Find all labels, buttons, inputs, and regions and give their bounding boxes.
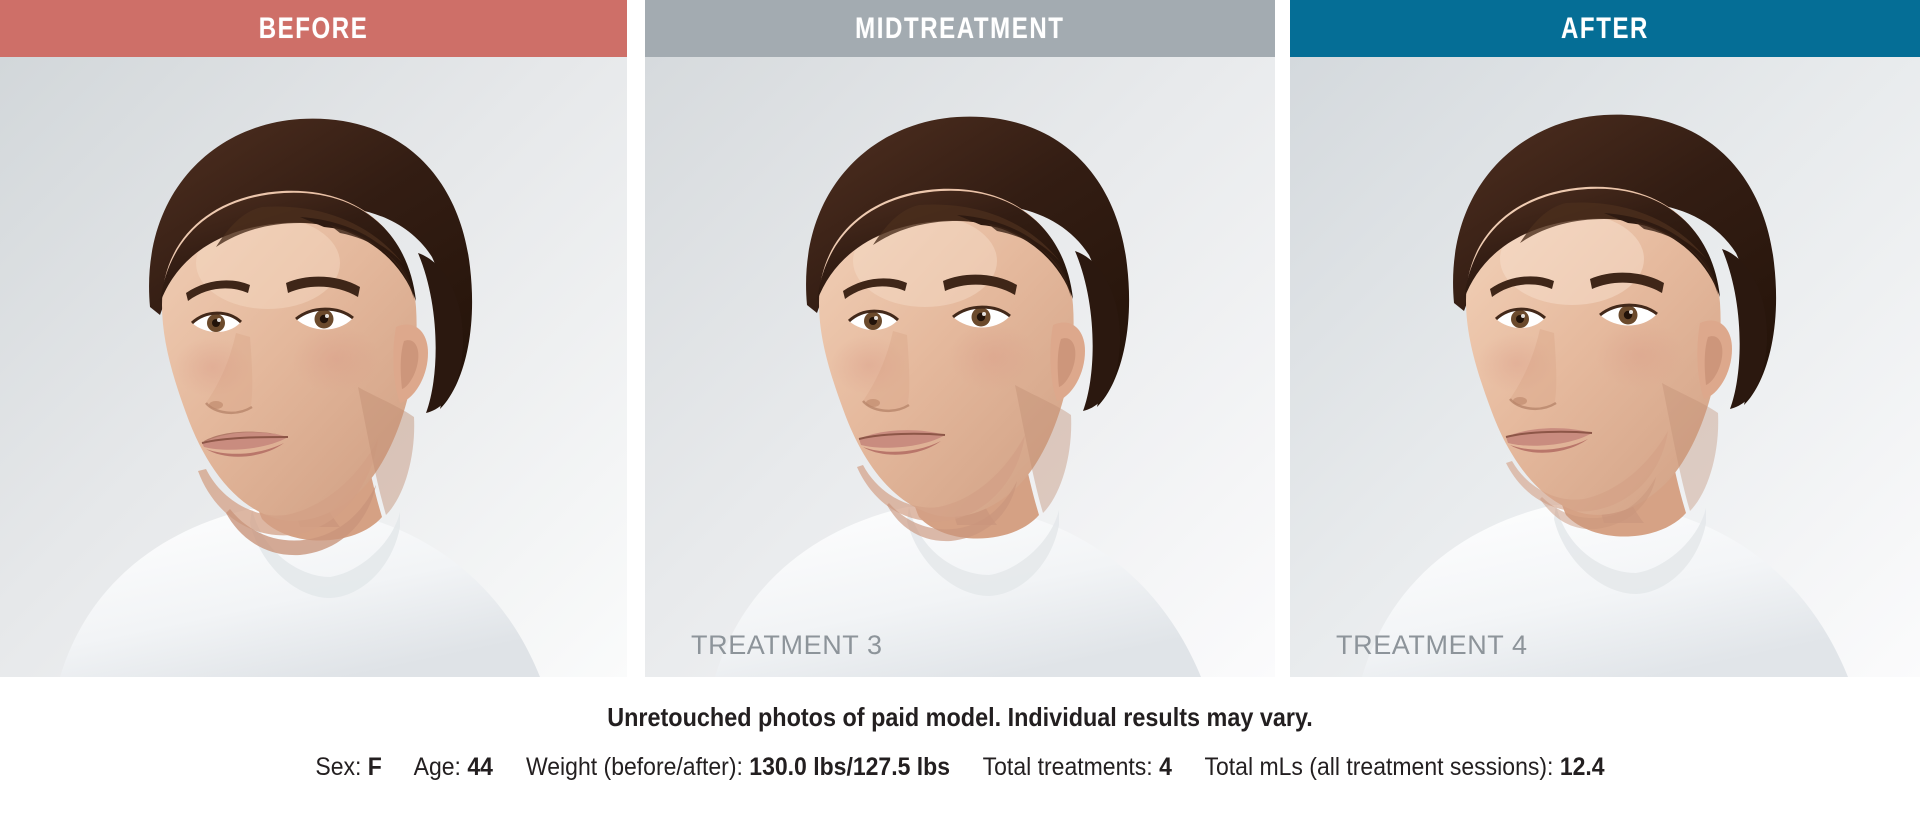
photo-after: TREATMENT 4 — [1290, 57, 1920, 677]
panel-gap-1 — [627, 0, 645, 677]
total-mls-label: Total mLs (all treatment sessions): — [1204, 753, 1553, 781]
panel-after: AFTER — [1290, 0, 1920, 677]
panel-midtreatment: MIDTREATMENT — [645, 0, 1275, 677]
weight-value: 130.0 lbs/127.5 lbs — [749, 753, 950, 781]
total-treatments-value: 4 — [1159, 753, 1172, 781]
panel-gap-2 — [1275, 0, 1290, 677]
portrait-illustration-midtreatment — [645, 57, 1275, 677]
panel-header-midtreatment: MIDTREATMENT — [645, 0, 1275, 57]
panel-header-before: BEFORE — [0, 0, 627, 57]
caption-block: Unretouched photos of paid model. Indivi… — [0, 677, 1920, 825]
total-mls-value: 12.4 — [1560, 753, 1605, 781]
weight-label: Weight (before/after): — [526, 753, 743, 781]
total-treatments-label: Total treatments: — [983, 753, 1153, 781]
panel-header-label: AFTER — [1561, 12, 1649, 46]
photo-before — [0, 57, 627, 677]
panel-header-label: BEFORE — [259, 12, 369, 46]
treatment-label-midtreatment: TREATMENT 3 — [691, 630, 883, 661]
panel-header-label: MIDTREATMENT — [855, 12, 1064, 46]
panel-before: BEFORE — [0, 0, 627, 677]
age-value: 44 — [467, 753, 493, 781]
sex-value: F — [368, 753, 382, 781]
age-label: Age: — [414, 753, 461, 781]
stats-line: Sex: F Age: 44 Weight (before/after): 13… — [77, 733, 1843, 782]
disclaimer-text: Unretouched photos of paid model. Indivi… — [96, 677, 1824, 733]
panel-header-after: AFTER — [1290, 0, 1920, 57]
portrait-illustration-before — [0, 57, 627, 677]
panel-row: BEFORE — [0, 0, 1920, 677]
before-after-comparison-figure: BEFORE — [0, 0, 1920, 825]
sex-label: Sex: — [315, 753, 361, 781]
photo-midtreatment: TREATMENT 3 — [645, 57, 1275, 677]
treatment-label-after: TREATMENT 4 — [1336, 630, 1528, 661]
portrait-illustration-after — [1290, 57, 1920, 677]
